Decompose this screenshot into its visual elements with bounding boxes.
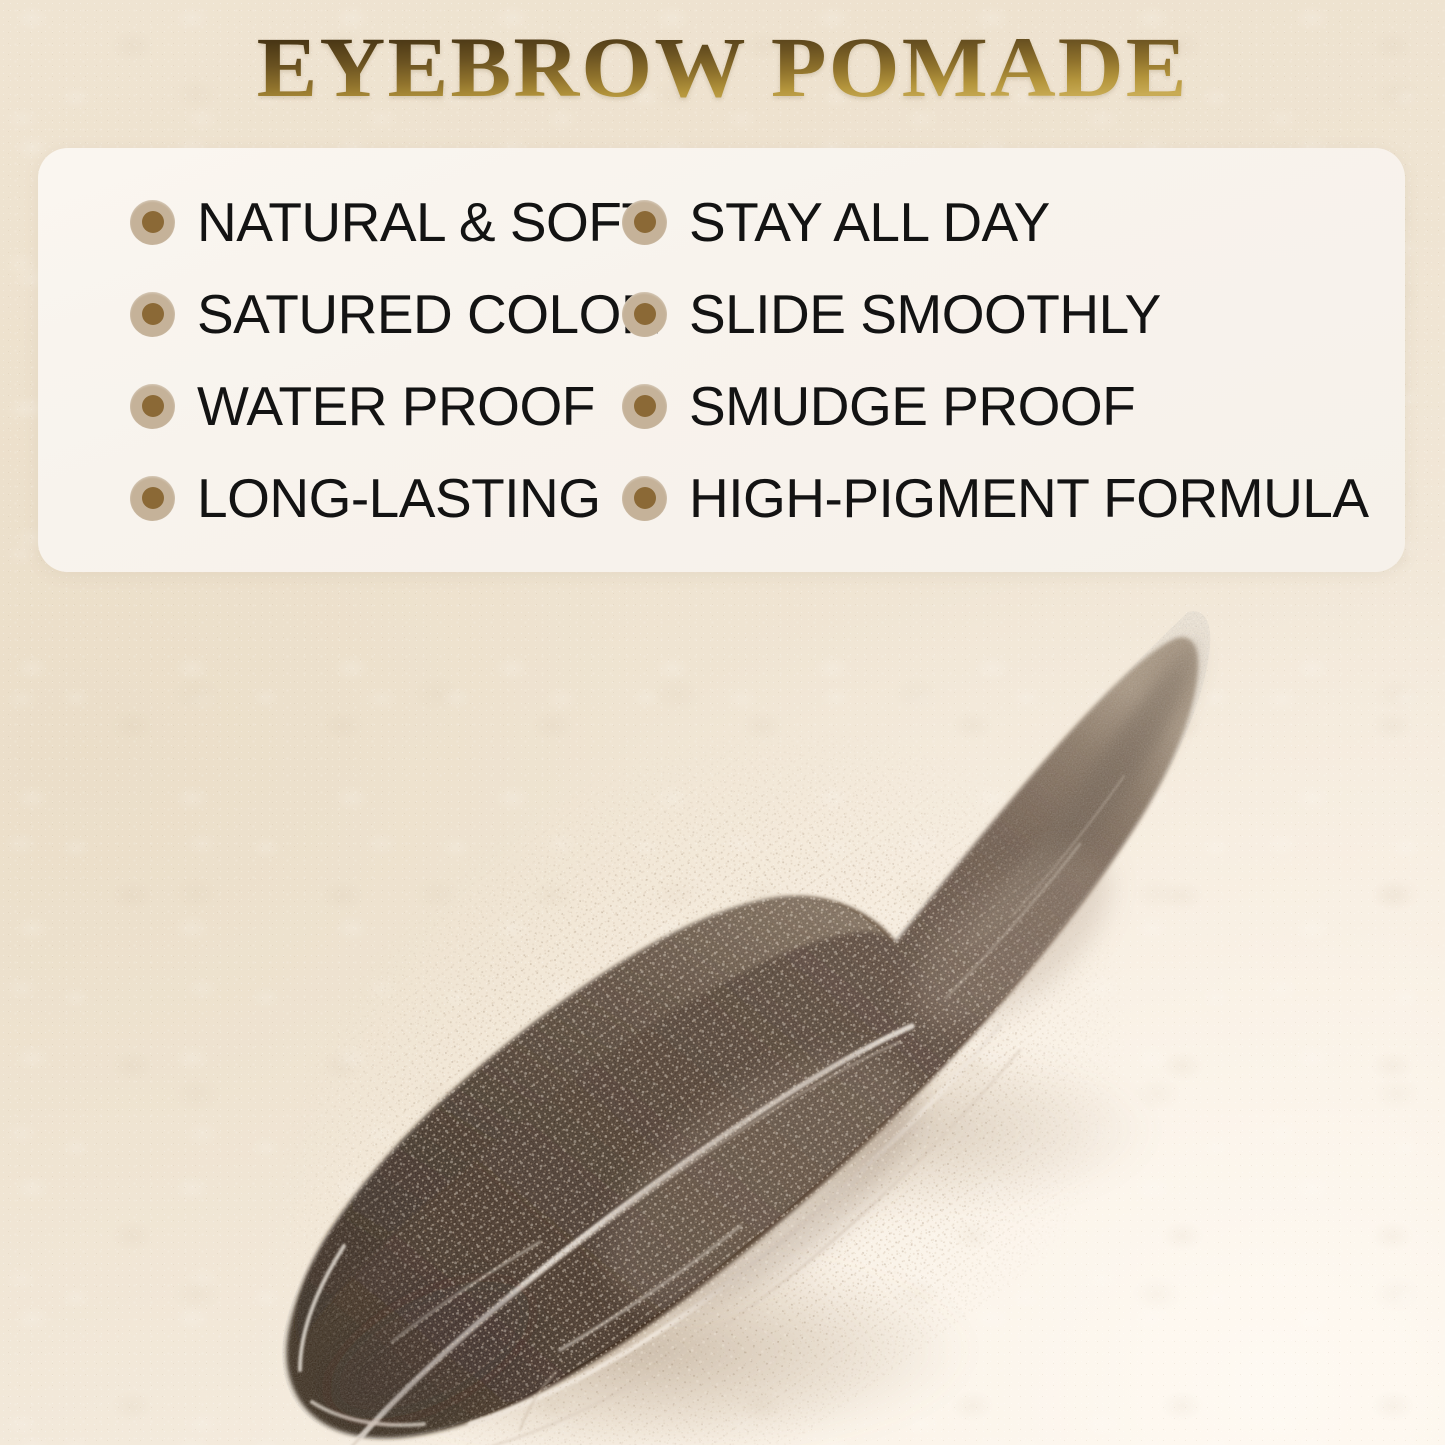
feature-label: LONG-LASTING: [197, 471, 601, 526]
feature-label: WATER PROOF: [197, 379, 595, 434]
feature-item-long-lasting: LONG-LASTING: [38, 452, 603, 544]
page-title: EYEBROW POMADE: [256, 24, 1188, 112]
feature-label: SLIDE SMOOTHLY: [689, 287, 1161, 342]
title-area: EYEBROW POMADE: [0, 24, 1445, 112]
feature-label: SMUDGE PROOF: [689, 379, 1135, 434]
bullet-dot-icon: [130, 292, 175, 337]
product-swatch: [0, 590, 1445, 1445]
bullet-dot-icon: [130, 476, 175, 521]
bullet-dot-icon: [622, 384, 667, 429]
feature-label: STAY ALL DAY: [689, 195, 1050, 250]
feature-item-stay-all-day: STAY ALL DAY: [603, 176, 1405, 268]
feature-card: NATURAL & SOFT STAY ALL DAY SATURED COLO…: [38, 148, 1405, 572]
bullet-dot-icon: [130, 200, 175, 245]
bullet-dot-icon: [622, 200, 667, 245]
feature-label: NATURAL & SOFT: [197, 195, 655, 250]
feature-list: NATURAL & SOFT STAY ALL DAY SATURED COLO…: [38, 148, 1405, 572]
feature-item-high-pigment-formula: HIGH-PIGMENT FORMULA: [603, 452, 1405, 544]
feature-label: HIGH-PIGMENT FORMULA: [689, 471, 1369, 526]
product-infographic: EYEBROW POMADE NATURAL & SOFT STAY ALL D…: [0, 0, 1445, 1445]
bullet-dot-icon: [622, 476, 667, 521]
feature-item-water-proof: WATER PROOF: [38, 360, 603, 452]
bullet-dot-icon: [622, 292, 667, 337]
feature-item-smudge-proof: SMUDGE PROOF: [603, 360, 1405, 452]
feature-label: SATURED COLOR: [197, 287, 660, 342]
feature-item-natural-soft: NATURAL & SOFT: [38, 176, 603, 268]
pomade-smear-illustration: [0, 590, 1445, 1445]
feature-item-satured-color: SATURED COLOR: [38, 268, 603, 360]
feature-item-slide-smoothly: SLIDE SMOOTHLY: [603, 268, 1405, 360]
bullet-dot-icon: [130, 384, 175, 429]
